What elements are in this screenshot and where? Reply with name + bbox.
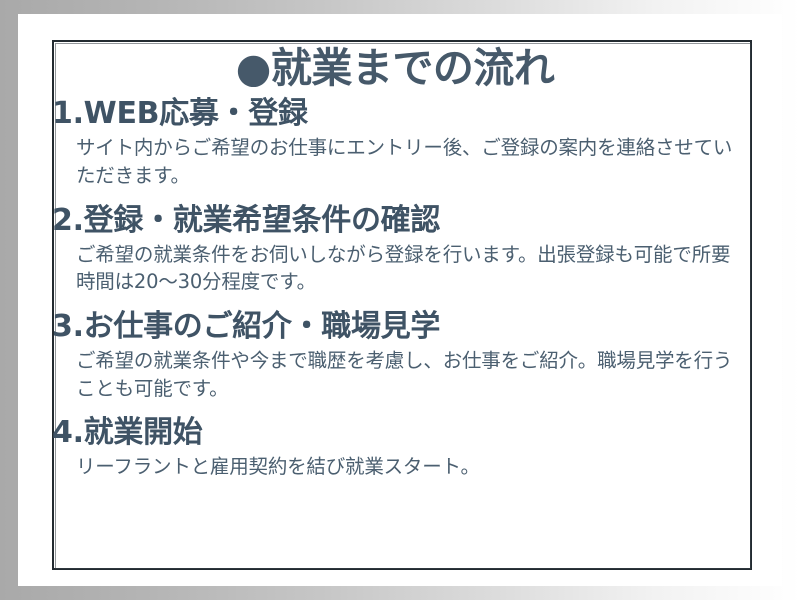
list-item: 4.就業開始 リーフラントと雇用契約を結び就業スタート。 [52, 413, 738, 481]
list-item: 1.WEB応募・登録 サイト内からご希望のお仕事にエントリー後、ご登録の案内を連… [52, 94, 738, 189]
step-heading-2: 2.登録・就業希望条件の確認 [52, 201, 738, 240]
list-item: 2.登録・就業希望条件の確認 ご希望の就業条件をお伺いしながら登録を行います。出… [52, 201, 738, 296]
step-body-4: リーフラントと雇用契約を結び就業スタート。 [52, 453, 738, 481]
page-title: ●就業までの流れ [52, 46, 738, 90]
step-heading-4: 4.就業開始 [52, 413, 738, 452]
slide-content: ●就業までの流れ 1.WEB応募・登録 サイト内からご希望のお仕事にエントリー後… [52, 40, 752, 570]
steps-list: 1.WEB応募・登録 サイト内からご希望のお仕事にエントリー後、ご登録の案内を連… [52, 94, 738, 481]
step-body-3: ご希望の就業条件や今まで職歴を考慮し、お仕事をご紹介。職場見学を行うことも可能で… [52, 347, 738, 402]
slide-canvas: { "slide": { "title": "●就業までの流れ", "title… [0, 0, 800, 600]
step-heading-3: 3.お仕事のご紹介・職場見学 [52, 307, 738, 346]
step-body-2: ご希望の就業条件をお伺いしながら登録を行います。出張登録も可能で所要時間は20〜… [52, 241, 738, 296]
list-item: 3.お仕事のご紹介・職場見学 ご希望の就業条件や今まで職歴を考慮し、お仕事をご紹… [52, 307, 738, 402]
step-heading-1: 1.WEB応募・登録 [52, 94, 738, 133]
step-body-1: サイト内からご希望のお仕事にエントリー後、ご登録の案内を連絡させていただきます。 [52, 134, 738, 189]
